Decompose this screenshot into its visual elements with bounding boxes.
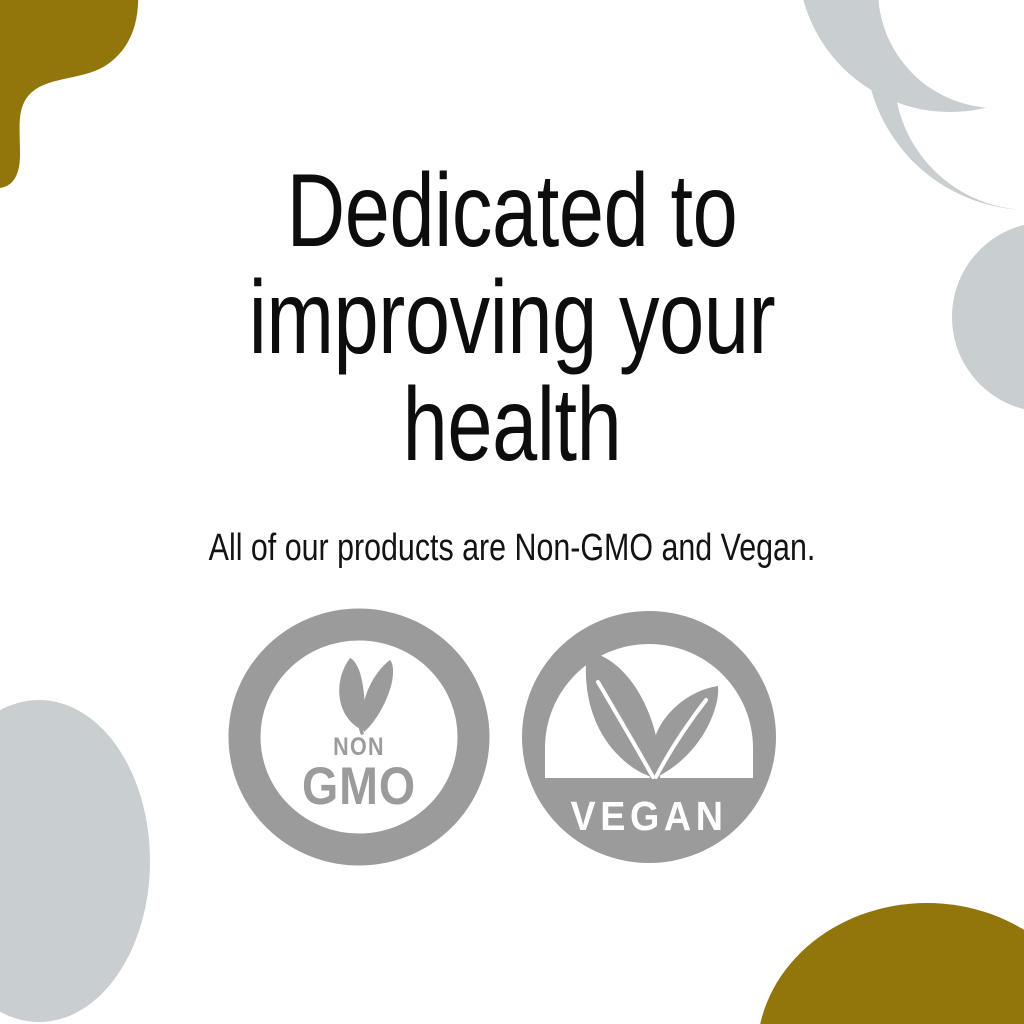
- gold-circle-bottom-right-decoration: [757, 903, 1024, 1024]
- subtitle-text: All of our products are Non-GMO and Vega…: [102, 526, 921, 570]
- non-gmo-line2-text: GMO: [302, 756, 416, 815]
- vegan-badge-icon: VEGAN: [520, 608, 778, 866]
- headline-line-2: improving your: [113, 265, 912, 372]
- headline: Dedicated to improving your health: [0, 158, 1024, 479]
- vegan-label-text: VEGAN: [570, 794, 727, 840]
- headline-line-3: health: [113, 372, 912, 479]
- promo-banner: Dedicated to improving your health All o…: [0, 0, 1024, 1024]
- certification-badges: NON GMO: [228, 608, 796, 870]
- gray-circle-bottom-left-decoration: [0, 700, 150, 1022]
- headline-line-1: Dedicated to: [113, 158, 912, 265]
- non-gmo-badge-icon: NON GMO: [228, 608, 490, 866]
